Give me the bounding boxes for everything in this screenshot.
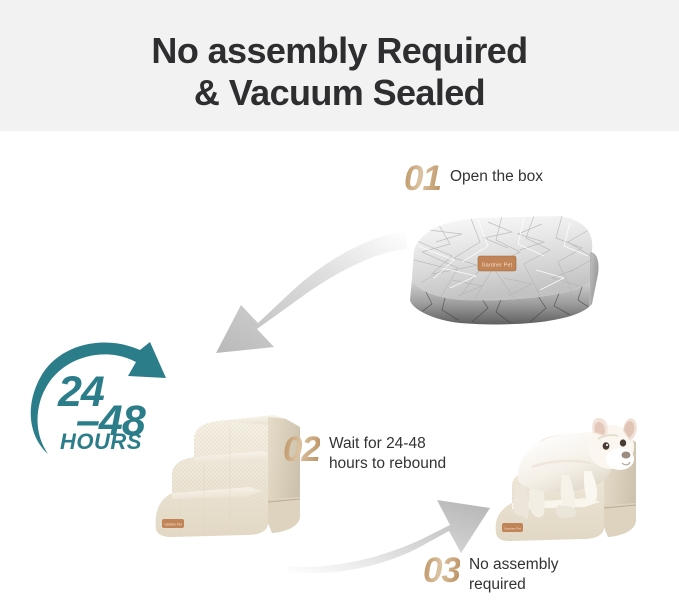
step-02-text: Wait for 24-48 hours to rebound <box>329 432 446 474</box>
step-02-number: 02 <box>283 432 320 467</box>
step-01-text: Open the box <box>450 161 543 187</box>
arrow-down-left-icon <box>178 225 408 355</box>
stairs-brand-label: Gardner Pet <box>162 519 184 528</box>
step-01-number: 01 <box>404 161 441 196</box>
step-01: 01 Open the box <box>404 161 543 196</box>
dog-on-stairs-image: Gardner Pet <box>492 413 660 549</box>
step-03-text: No assembly required <box>469 553 559 595</box>
watermark: ······ <box>0 595 679 601</box>
step-03-number: 03 <box>423 553 460 588</box>
pet-stairs-image: Gardner Pet <box>150 403 310 545</box>
vacuum-sealed-package-image: Gardner Pet <box>392 208 604 330</box>
dog-stairs-brand-label: Gardner Pet <box>502 523 523 532</box>
svg-text:Gardner Pet: Gardner Pet <box>504 527 521 531</box>
svg-text:Gardner Pet: Gardner Pet <box>164 523 181 527</box>
badge-line-3: HOURS <box>60 431 142 453</box>
step-02: 02 Wait for 24-48 hours to rebound <box>283 432 446 474</box>
package-brand-label: Gardner Pet <box>478 256 516 271</box>
step-03: 03 No assembly required <box>423 553 559 595</box>
page-title: No assembly Required & Vacuum Sealed <box>0 30 679 115</box>
infographic-canvas: No assembly Required & Vacuum Sealed 01 … <box>0 0 679 608</box>
svg-text:Gardner Pet: Gardner Pet <box>482 263 513 269</box>
